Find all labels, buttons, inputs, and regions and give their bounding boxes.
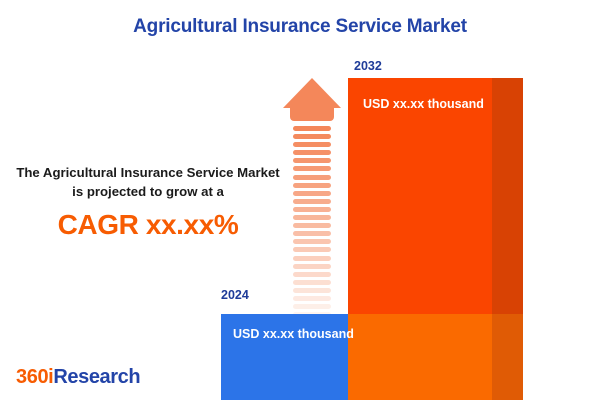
arrow-stripe [293,150,331,155]
arrow-stripe [293,304,331,309]
arrow-stripe [293,264,331,269]
arrow-head-icon [283,78,341,108]
brand-logo: 360iResearch [16,366,140,389]
statement-text: The Agricultural Insurance Service Marke… [14,163,282,201]
statement-block: The Agricultural Insurance Service Marke… [14,163,282,241]
arrow-stripe [293,142,331,147]
bar-value-2024: USD xx.xx thousand [233,327,354,341]
bar-2032-overlap-side [492,314,523,400]
arrow-stripe [293,207,331,212]
arrow-stripe [293,272,331,277]
bar-value-2032: USD xx.xx thousand [363,97,484,111]
year-label-2024: 2024 [221,288,249,302]
bar-2032-overlap-front [348,314,492,400]
arrow-stripe [293,191,331,196]
arrow-neck [290,107,334,121]
cagr-value: CAGR xx.xx% [14,210,282,241]
page-title: Agricultural Insurance Service Market [0,16,600,38]
arrow-stripe [293,183,331,188]
arrow-stripe [293,158,331,163]
arrow-stripe [293,239,331,244]
arrow-stripe [293,280,331,285]
arrow-stripe [293,134,331,139]
arrow-stripe [293,166,331,171]
arrow-stripe [293,199,331,204]
year-label-2032: 2032 [354,59,382,73]
arrow-stripe [293,126,331,131]
logo-text-360: 360 [16,366,48,388]
arrow-stripe [293,223,331,228]
arrow-stripes [293,126,331,278]
arrow-stripe [293,288,331,293]
arrow-stripe [293,296,331,301]
logo-text-research: Research [53,366,140,388]
up-arrow-growth-icon [283,78,343,278]
arrow-stripe [293,215,331,220]
arrow-stripe [293,175,331,180]
arrow-stripe [293,231,331,236]
infographic-canvas: Agricultural Insurance Service Market Th… [0,0,600,400]
arrow-stripe [293,256,331,261]
arrow-stripe [293,247,331,252]
